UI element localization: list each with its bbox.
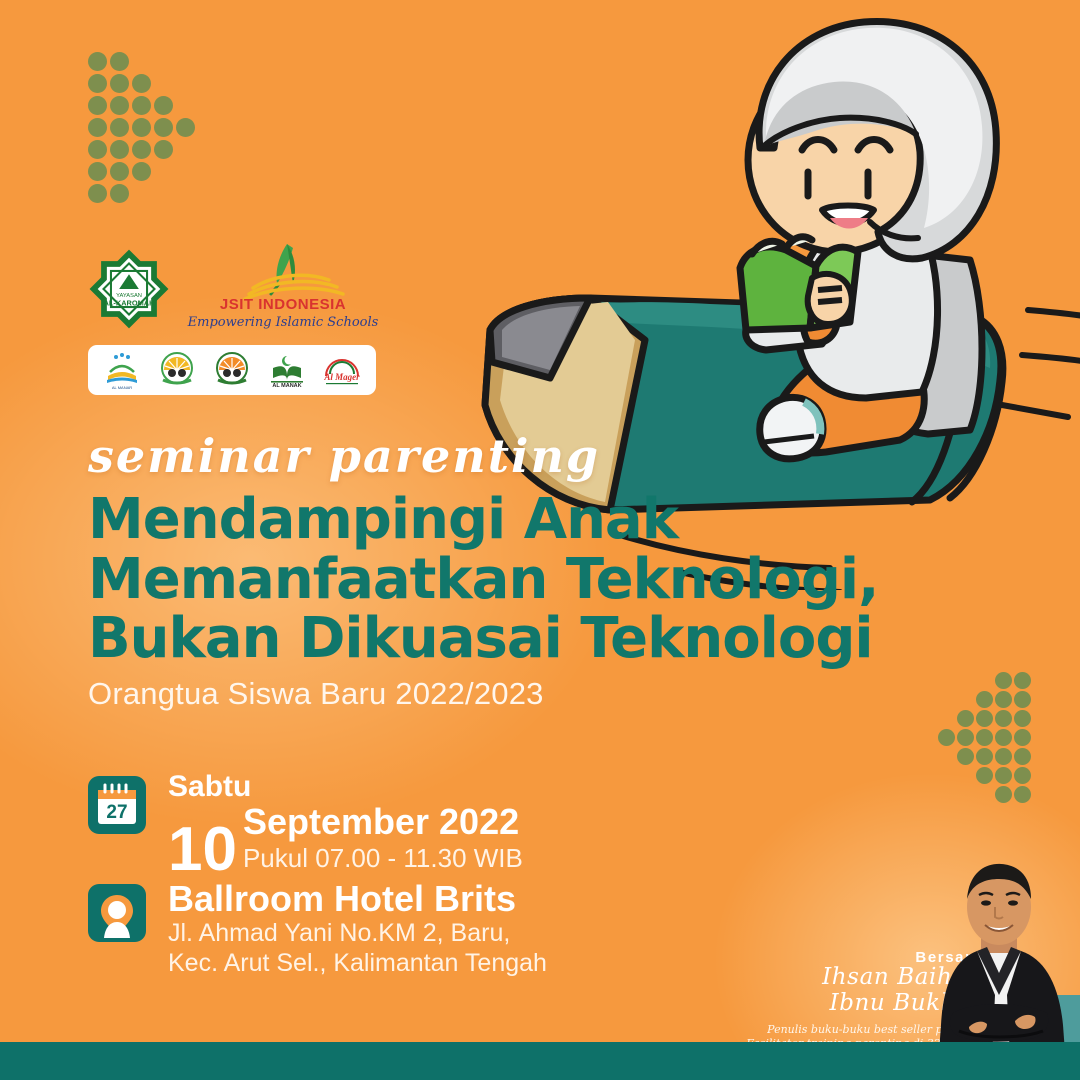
decorative-dot <box>995 748 1012 765</box>
decorative-dot <box>88 184 107 203</box>
event-date-row: 27 Sabtu 10 September 2022 Pukul 07.00 -… <box>88 772 523 877</box>
decorative-dot <box>110 162 129 181</box>
subtitle: Orangtua Siswa Baru 2022/2023 <box>88 676 888 712</box>
event-day-number: 10 <box>168 824 237 876</box>
decorative-dot <box>995 710 1012 727</box>
decorative-dot <box>957 748 974 765</box>
decorative-dot <box>995 672 1012 689</box>
partner-logo-sunrise-1-icon <box>155 350 199 390</box>
decorative-dot <box>88 162 107 181</box>
decorative-dot <box>976 748 993 765</box>
decorative-dot <box>88 96 107 115</box>
decorative-dot <box>110 140 129 159</box>
venue-address-line-2: Kec. Arut Sel., Kalimantan Tengah <box>168 948 547 979</box>
decorative-dot <box>957 710 974 727</box>
title-line-2: Memanfaatkan Teknologi, <box>88 550 888 609</box>
decorative-dot <box>110 118 129 137</box>
event-date-text: Sabtu 10 September 2022 Pukul 07.00 - 11… <box>168 772 523 877</box>
decorative-dot <box>976 691 993 708</box>
decorative-dot <box>995 691 1012 708</box>
headline-block: seminar parenting Mendampingi Anak Meman… <box>88 432 888 712</box>
event-month-year: September 2022 <box>243 804 523 840</box>
jsit-title: JSIT INDONESIA <box>183 296 383 313</box>
decorative-dot <box>132 162 151 181</box>
event-venue-text: Ballroom Hotel Brits Jl. Ahmad Yani No.K… <box>168 880 547 979</box>
decorative-dot <box>110 184 129 203</box>
decorative-dot <box>154 96 173 115</box>
main-title: Mendampingi Anak Memanfaatkan Teknologi,… <box>88 490 888 668</box>
decorative-dot <box>1014 729 1031 746</box>
yayasan-al-karomah-logo: YAYASAN AL-KAROMAH <box>88 248 170 330</box>
jsit-indonesia-logo: JSIT INDONESIA Empowering Islamic School… <box>183 240 383 335</box>
decorative-dot <box>132 118 151 137</box>
decorative-dot <box>976 729 993 746</box>
svg-text:AL MANAK: AL MANAK <box>273 383 302 389</box>
venue-name: Ballroom Hotel Brits <box>168 880 547 918</box>
decorative-dot <box>995 729 1012 746</box>
yayasan-label-2: AL-KAROMAH <box>104 298 155 307</box>
event-time: Pukul 07.00 - 11.30 WIB <box>243 842 523 875</box>
arrow-dot-pattern-right-icon <box>88 52 198 192</box>
decorative-dot <box>1014 786 1031 803</box>
title-line-1: Mendampingi Anak <box>88 490 888 549</box>
jsit-tagline: Empowering Islamic Schools <box>183 315 383 330</box>
decorative-dot <box>110 52 129 71</box>
decorative-dot <box>176 118 195 137</box>
partner-logo-sunrise-2-icon <box>210 350 254 390</box>
decorative-dot <box>110 96 129 115</box>
decorative-dot <box>1014 748 1031 765</box>
event-venue-row: Ballroom Hotel Brits Jl. Ahmad Yani No.K… <box>88 880 547 979</box>
footer-bar <box>0 1042 1080 1080</box>
venue-address-line-1: Jl. Ahmad Yani No.KM 2, Baru, <box>168 918 547 949</box>
decorative-dot <box>976 710 993 727</box>
decorative-dot <box>957 729 974 746</box>
decorative-dot <box>938 729 955 746</box>
decorative-dot <box>1014 672 1031 689</box>
svg-text:Al Mager: Al Mager <box>324 372 361 382</box>
decorative-dot <box>1014 710 1031 727</box>
decorative-dot <box>1014 691 1031 708</box>
decorative-dot <box>88 52 107 71</box>
partner-logo-al-manak-icon: AL MANAK <box>265 350 309 390</box>
jsit-feather-icon <box>183 240 383 300</box>
decorative-dot <box>154 140 173 159</box>
location-pin-icon <box>88 884 146 942</box>
decorative-dot <box>132 96 151 115</box>
event-day-label: Sabtu <box>168 772 523 802</box>
arrow-dot-pattern-left-icon <box>938 672 1058 797</box>
organizer-logos: YAYASAN AL-KAROMAH JSIT INDONESIA Empowe… <box>88 240 388 335</box>
eyebrow-seminar-parenting: seminar parenting <box>88 432 888 480</box>
partner-school-logos-bar: AL MANAR AL MANAK Al Mager <box>88 345 376 395</box>
decorative-dot <box>1014 767 1031 784</box>
calendar-day-glyph: 27 <box>106 802 127 823</box>
decorative-dot <box>88 74 107 93</box>
svg-text:AL MANAR: AL MANAR <box>111 385 131 390</box>
decorative-dot <box>110 74 129 93</box>
decorative-dot <box>88 118 107 137</box>
partner-logo-al-mager-icon: Al Mager <box>320 350 364 390</box>
decorative-dot <box>995 786 1012 803</box>
decorative-dot <box>976 767 993 784</box>
calendar-icon: 27 <box>88 776 146 834</box>
decorative-dot <box>154 118 173 137</box>
title-line-3: Bukan Dikuasai Teknologi <box>88 609 888 668</box>
decorative-dot <box>132 74 151 93</box>
partner-logo-al-manar-1-icon: AL MANAR <box>100 350 144 390</box>
decorative-dot <box>995 767 1012 784</box>
poster-canvas: YAYASAN AL-KAROMAH JSIT INDONESIA Empowe… <box>0 0 1080 1080</box>
decorative-dot <box>132 140 151 159</box>
decorative-dot <box>88 140 107 159</box>
